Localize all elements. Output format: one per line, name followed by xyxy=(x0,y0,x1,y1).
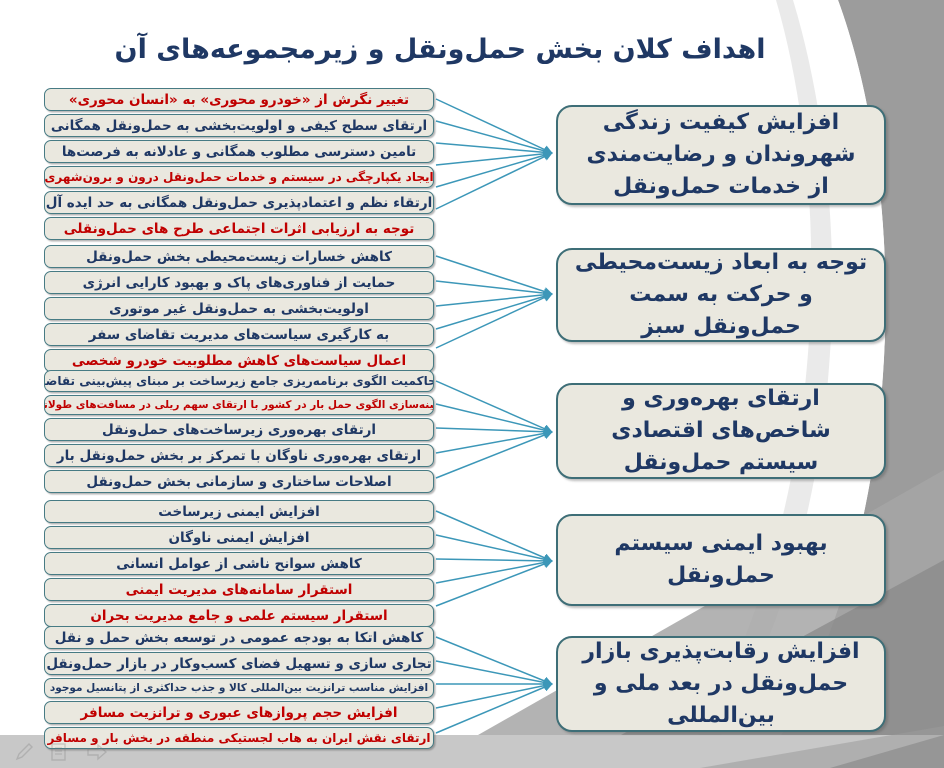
objective-box[interactable]: ارتقای بهره‌وری زیرساخت‌های حمل‌ونقل xyxy=(44,418,434,441)
objective-box[interactable]: ارتقای سطح کیفی و اولویت‌بخشی به حمل‌ونق… xyxy=(44,114,434,137)
objective-box[interactable]: افزایش مناسب ترانزیت بین‌المللی کالا و ج… xyxy=(44,678,434,698)
objective-box[interactable]: اولویت‌بخشی به حمل‌ونقل غیر موتوری xyxy=(44,297,434,320)
arrow-right-icon[interactable] xyxy=(86,743,108,761)
objective-box[interactable]: کاهش خسارات زیست‌محیطی بخش حمل‌ونقل xyxy=(44,245,434,268)
objective-group-1: تغییر نگرش از «خودرو محوری» به «انسان مح… xyxy=(44,88,434,243)
presentation-slide: اهداف کلان بخش حمل‌ونقل و زیرمجموعه‌های … xyxy=(0,0,944,768)
objective-box[interactable]: حاکمیت الگوی برنامه‌ریزی جامع زیرساخت بر… xyxy=(44,370,434,392)
objective-box[interactable]: کاهش سوانح ناشی از عوامل انسانی xyxy=(44,552,434,575)
goal-box-2[interactable]: توجه به ابعاد زیست‌محیطی و حرکت به سمت ح… xyxy=(556,248,886,342)
objective-box[interactable]: تامین دسترسی مطلوب همگانی و عادلانه به ف… xyxy=(44,140,434,163)
objective-box[interactable]: حمایت از فناوری‌های پاک و بهبود کارایی ا… xyxy=(44,271,434,294)
objective-box[interactable]: استقرار سامانه‌های مدیریت ایمنی xyxy=(44,578,434,601)
objective-box[interactable]: تغییر نگرش از «خودرو محوری» به «انسان مح… xyxy=(44,88,434,111)
objective-group-5: کاهش اتکا به بودجه عمومی در توسعه بخش حم… xyxy=(44,626,434,752)
goal-box-4[interactable]: بهبود ایمنی سیستم حمل‌ونقل xyxy=(556,514,886,606)
objective-box[interactable]: کاهش اتکا به بودجه عمومی در توسعه بخش حم… xyxy=(44,626,434,649)
objective-group-3: حاکمیت الگوی برنامه‌ریزی جامع زیرساخت بر… xyxy=(44,370,434,496)
document-icon[interactable] xyxy=(50,742,68,762)
objective-box[interactable]: ارتقای بهره‌وری ناوگان با تمرکز بر بخش ح… xyxy=(44,444,434,467)
objective-box[interactable]: افزایش ایمنی ناوگان xyxy=(44,526,434,549)
goal-box-5[interactable]: افزایش رقابت‌پذیری بازار حمل‌ونقل در بعد… xyxy=(556,636,886,732)
goal-box-3[interactable]: ارتقای بهره‌وری و شاخص‌های اقتصادی سیستم… xyxy=(556,383,886,479)
objective-box[interactable]: افزایش ایمنی زیرساخت xyxy=(44,500,434,523)
page-title: اهداف کلان بخش حمل‌ونقل و زیرمجموعه‌های … xyxy=(0,34,880,65)
objective-box[interactable]: استقرار سیستم علمی و جامع مدیریت بحران xyxy=(44,604,434,627)
objective-group-2: کاهش خسارات زیست‌محیطی بخش حمل‌ونقلحمایت… xyxy=(44,245,434,375)
objective-box[interactable]: بهینه‌سازی الگوی حمل بار در کشور با ارتق… xyxy=(44,395,434,415)
objective-box[interactable]: ارتقاء نظم و اعتمادپذیری حمل‌ونقل همگانی… xyxy=(44,191,434,214)
objective-group-4: افزایش ایمنی زیرساختافزایش ایمنی ناوگانک… xyxy=(44,500,434,630)
objective-box[interactable]: ایجاد یکپارچگی در سیستم و خدمات حمل‌ونقل… xyxy=(44,166,434,188)
objective-box[interactable]: تجاری سازی و تسهیل فضای کسب‌وکار در بازا… xyxy=(44,652,434,675)
objective-box[interactable]: افزایش حجم پروازهای عبوری و ترانزیت مساف… xyxy=(44,701,434,724)
objective-box[interactable]: توجه به ارزیابی اثرات اجتماعی طرح های حم… xyxy=(44,217,434,240)
objective-box[interactable]: اعمال سیاست‌های کاهش مطلوبیت خودرو شخصی xyxy=(44,349,434,372)
bottom-status-bar xyxy=(0,735,944,768)
pencil-icon[interactable] xyxy=(14,742,34,762)
objective-box[interactable]: به کارگیری سیاست‌های مدیریت تقاضای سفر xyxy=(44,323,434,346)
objective-box[interactable]: اصلاحات ساختاری و سازمانی بخش حمل‌ونقل xyxy=(44,470,434,493)
goal-box-1[interactable]: افزایش کیفیت زندگی شهروندان و رضایت‌مندی… xyxy=(556,105,886,205)
